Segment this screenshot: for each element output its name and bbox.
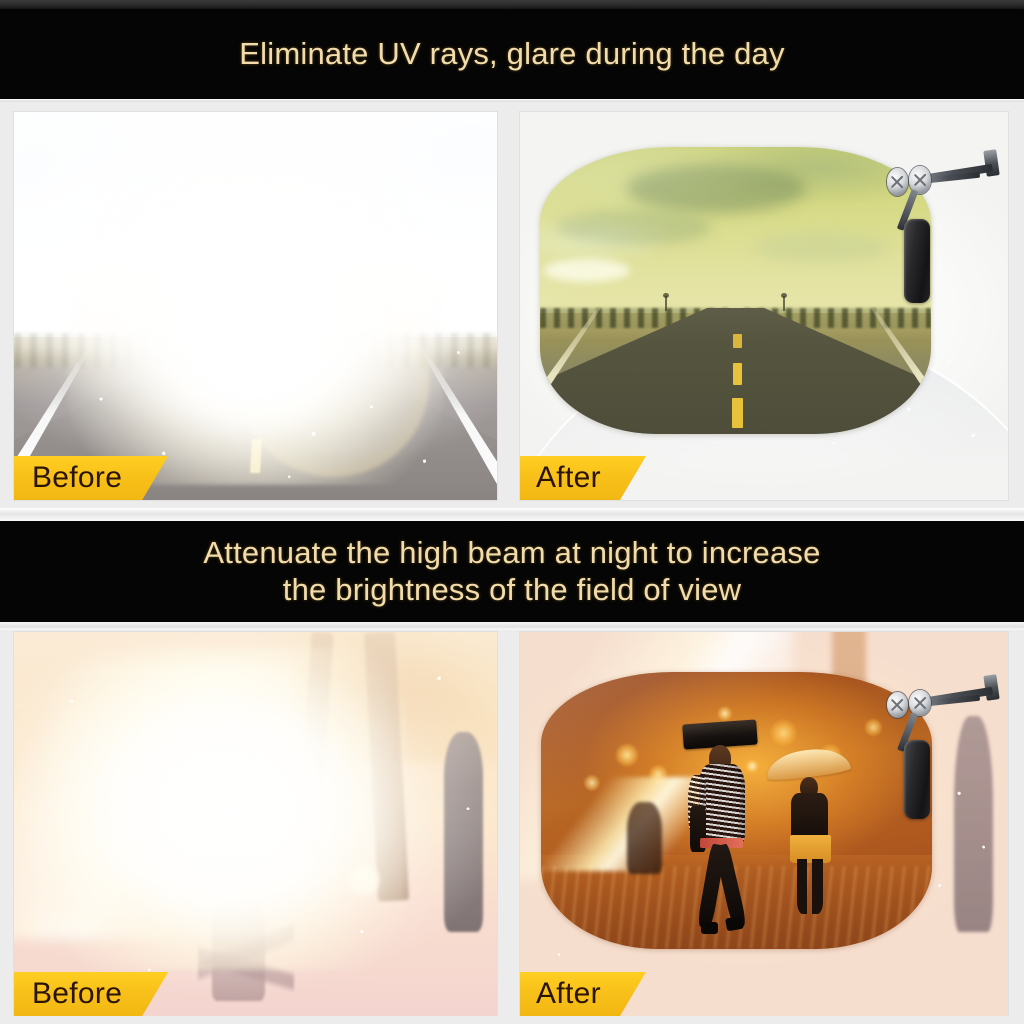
night-after-badge-label: After xyxy=(536,979,601,1009)
infographic-page: Eliminate UV rays, glare during the day xyxy=(0,0,1024,1024)
separator-bottom xyxy=(0,622,1024,630)
separator-middle xyxy=(0,508,1024,521)
lens-cloud-3 xyxy=(544,259,630,282)
day-before-badge: Before xyxy=(14,456,168,500)
lens-cloud-4 xyxy=(755,233,888,262)
night-after-photo xyxy=(520,632,1008,1016)
day-before-photo xyxy=(14,112,497,500)
day-before-badge-label: Before xyxy=(32,463,122,493)
night-lens xyxy=(541,672,931,948)
night-before-badge: Before xyxy=(14,972,168,1016)
rain-specks xyxy=(14,632,497,1016)
day-after-panel[interactable]: After xyxy=(520,112,1008,500)
night-after-panel[interactable]: After xyxy=(520,632,1008,1016)
night-before-badge-label: Before xyxy=(32,979,122,1009)
day-after-badge-label: After xyxy=(536,463,601,493)
separator-top xyxy=(0,99,1024,103)
day-lens xyxy=(540,147,930,434)
lens-cloud-1 xyxy=(626,164,806,213)
lens-center-dash-2 xyxy=(733,363,742,385)
night-before-panel[interactable]: Before xyxy=(14,632,497,1016)
lens-roadside-pole-2 xyxy=(783,296,785,310)
lens-cloud-2 xyxy=(556,210,712,244)
day-banner-text: Eliminate UV rays, glare during the day xyxy=(239,36,784,73)
lens-center-dash-3 xyxy=(732,398,743,428)
day-after-photo xyxy=(520,112,1008,500)
night-banner: Attenuate the high beam at night to incr… xyxy=(0,521,1024,622)
lens-sheen xyxy=(541,672,931,948)
night-comparison-row: Before xyxy=(14,632,1008,1016)
night-banner-text: Attenuate the high beam at night to incr… xyxy=(203,535,820,608)
lens-center-dash-1 xyxy=(733,334,742,348)
lens-roadside-pole-1 xyxy=(665,296,667,310)
bottom-margin xyxy=(0,1016,1024,1024)
night-before-photo xyxy=(14,632,497,1016)
dust-specks xyxy=(14,112,497,500)
day-before-panel[interactable]: Before xyxy=(14,112,497,500)
top-strip xyxy=(0,0,1024,9)
day-comparison-row: Before xyxy=(14,112,1008,500)
day-banner: Eliminate UV rays, glare during the day xyxy=(0,9,1024,99)
